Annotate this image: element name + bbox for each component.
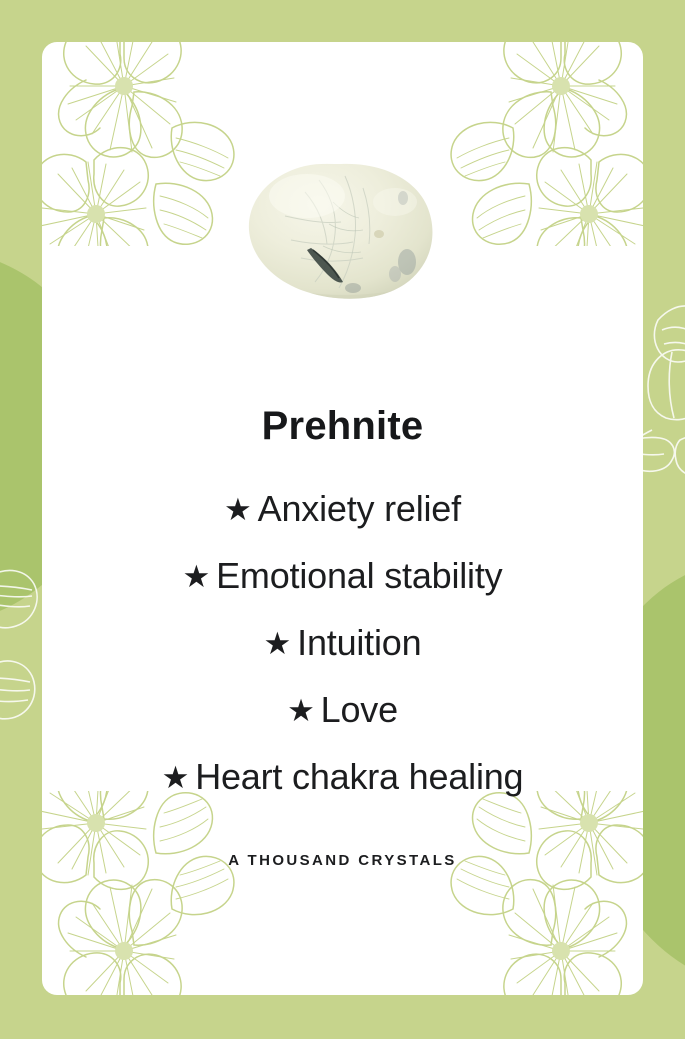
list-item: ★Intuition <box>42 610 643 677</box>
crystal-card: Prehnite ★Anxiety relief ★Emotional stab… <box>42 42 643 995</box>
prehnite-stone-graphic <box>245 162 441 300</box>
list-item: ★Love <box>42 677 643 744</box>
property-label: Love <box>321 689 398 730</box>
property-label: Heart chakra healing <box>195 756 523 797</box>
property-label: Intuition <box>297 622 421 663</box>
property-label: Anxiety relief <box>258 488 461 529</box>
page-title: Prehnite <box>42 404 643 448</box>
list-item: ★Emotional stability <box>42 543 643 610</box>
star-icon: ★ <box>162 760 190 795</box>
brand-name: A THOUSAND CRYSTALS <box>42 852 643 869</box>
list-item: ★Anxiety relief <box>42 476 643 543</box>
list-item: ★Heart chakra healing <box>42 744 643 811</box>
star-icon: ★ <box>287 693 315 728</box>
crystal-image <box>42 162 643 300</box>
crystal-properties-list: ★Anxiety relief ★Emotional stability ★In… <box>42 476 643 811</box>
star-icon: ★ <box>264 626 292 661</box>
property-label: Emotional stability <box>216 555 502 596</box>
star-icon: ★ <box>224 492 252 527</box>
star-icon: ★ <box>183 559 211 594</box>
